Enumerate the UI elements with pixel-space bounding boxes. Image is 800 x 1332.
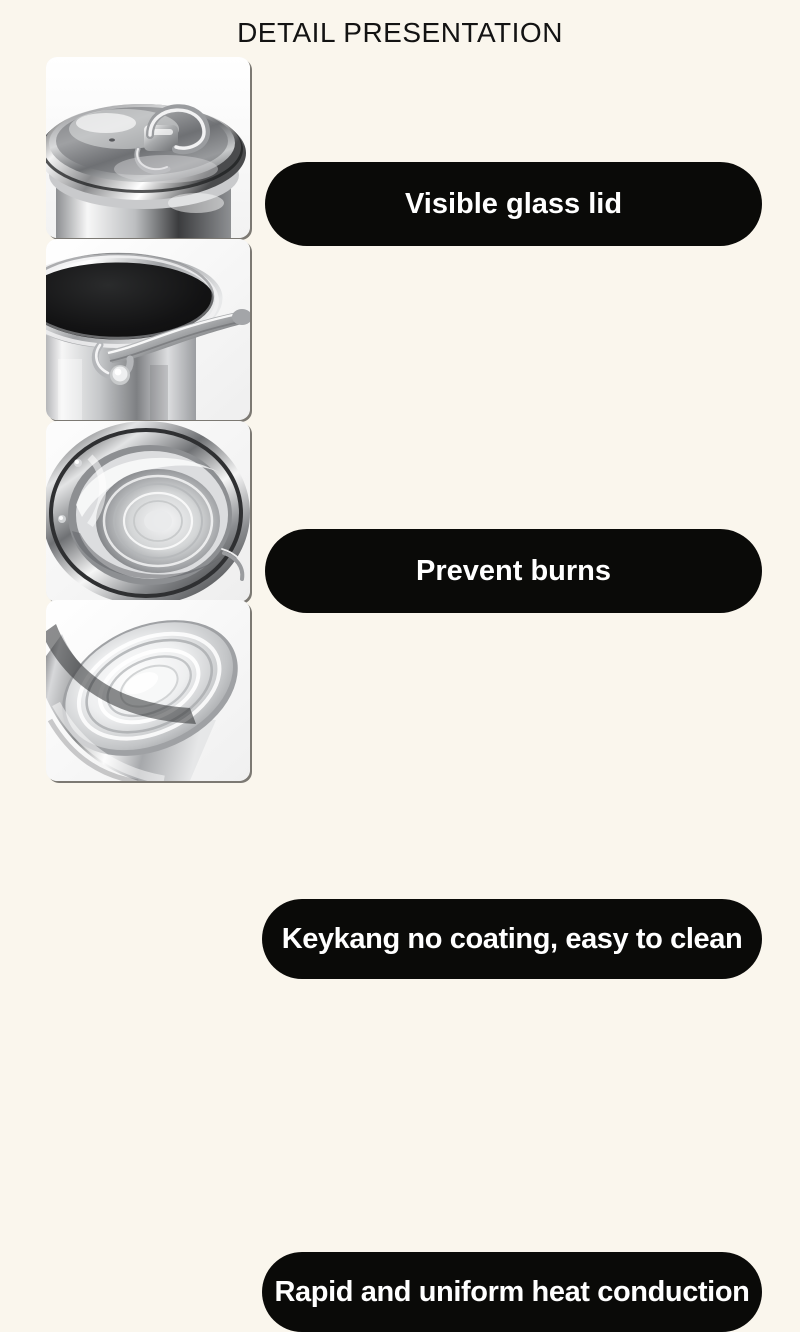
pot-base-photo	[46, 600, 250, 781]
feature-badge-label: Visible glass lid	[405, 190, 622, 219]
feature-badge-heat-conduction[interactable]: Rapid and uniform heat conduction	[262, 1252, 762, 1332]
feature-row: Keykang no coating, easy to clean	[0, 421, 800, 602]
pot-interior-photo	[46, 421, 250, 602]
feature-row: Visible glass lid	[0, 57, 800, 238]
feature-badge-visible-glass-lid[interactable]: Visible glass lid	[265, 162, 762, 246]
feature-badge-label: Rapid and uniform heat conduction	[275, 1278, 750, 1307]
feature-row: Prevent burns	[0, 239, 800, 420]
feature-list: Visible glass lid	[0, 0, 800, 800]
side-handle-photo	[46, 239, 250, 420]
feature-badge-no-coating[interactable]: Keykang no coating, easy to clean	[262, 899, 762, 979]
feature-badge-label: Keykang no coating, easy to clean	[282, 925, 743, 954]
feature-row: Rapid and uniform heat conduction	[0, 600, 800, 781]
glass-lid-photo	[46, 57, 250, 238]
